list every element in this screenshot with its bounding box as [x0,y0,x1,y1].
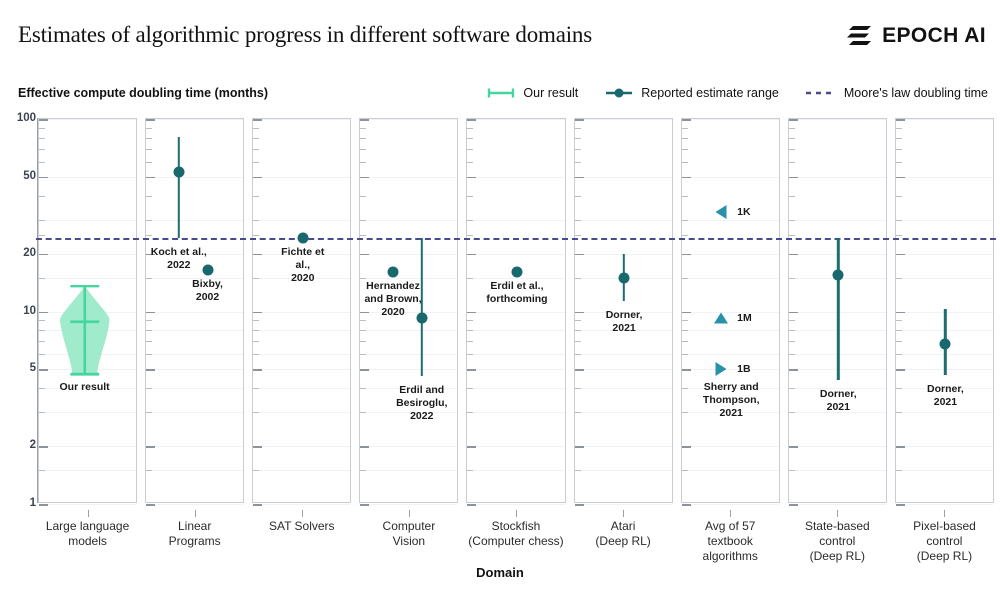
gridline [146,354,243,355]
gridline [39,412,136,413]
gridline [896,504,993,505]
minor-tick [467,138,473,139]
minor-tick [682,354,688,355]
major-tick [146,504,155,506]
minor-tick [575,388,581,389]
minor-tick [896,412,902,413]
gridline [253,504,350,505]
minor-tick [360,196,366,197]
minor-tick [146,341,152,342]
y-axis: 100502010521 [0,110,40,510]
minor-tick [39,341,45,342]
minor-tick [39,196,45,197]
minor-tick [146,278,152,279]
major-tick [253,312,262,314]
gridline [682,330,779,331]
major-tick [789,369,798,371]
major-tick [146,369,155,371]
minor-tick [360,220,366,221]
marker-value-label: 1K [737,206,750,218]
moores-law-line [679,238,782,240]
panel-grid: Our resultKoch et al., 2022Bixby, 2002Fi… [38,110,994,510]
minor-tick [789,128,795,129]
gridline [146,220,243,221]
minor-tick [575,162,581,163]
domain-panel: Erdil et al., forthcoming [466,118,565,503]
legend-item-reported-range[interactable]: Reported estimate range [604,86,779,100]
major-tick [575,369,584,371]
minor-tick [467,278,473,279]
minor-tick [789,220,795,221]
x-tick [516,510,517,517]
major-tick [682,254,691,256]
triangle-left-marker-icon [716,205,727,219]
dashed-line-icon [805,86,837,100]
minor-tick [467,196,473,197]
minor-tick [896,330,902,331]
x-tick [730,510,731,517]
minor-tick [467,162,473,163]
minor-tick [146,196,152,197]
gridline [789,504,886,505]
estimate-point-marker [940,338,951,349]
minor-tick [467,235,473,236]
y-tick-label: 5 [30,362,36,374]
gridline [467,330,564,331]
minor-tick [253,128,259,129]
minor-tick [682,149,688,150]
gridline [575,220,672,221]
chart-header: Estimates of algorithmic progress in dif… [0,0,1000,68]
brand-name: EPOCH AI [882,24,986,48]
minor-tick [360,128,366,129]
minor-tick [146,388,152,389]
minor-tick [360,320,366,321]
minor-tick [253,162,259,163]
estimate-label: Koch et al., 2022 [151,246,207,272]
minor-tick [39,388,45,389]
epoch-slanted-bars-logo-icon [847,25,873,47]
major-tick [896,119,905,121]
gridline [467,470,564,471]
major-tick [896,254,905,256]
gridline [360,330,457,331]
gridline [575,369,672,370]
minor-tick [360,388,366,389]
gridline [146,177,243,178]
gridline [467,504,564,505]
major-tick [360,254,369,256]
minor-tick [682,320,688,321]
minor-tick [896,196,902,197]
minor-tick [253,330,259,331]
x-tick [837,510,838,517]
major-tick [360,446,369,448]
domain-panel: 1K1M1BSherry and Thompson, 2021 [681,118,780,503]
gridline [896,177,993,178]
minor-tick [789,149,795,150]
major-tick [467,119,476,121]
gridline [39,119,136,120]
minor-tick [682,128,688,129]
capped-error-bar-icon [486,86,516,100]
minor-tick [360,149,366,150]
minor-tick [682,470,688,471]
minor-tick [253,470,259,471]
gridline [39,278,136,279]
gridline [467,254,564,255]
gridline [360,354,457,355]
gridline [467,312,564,313]
gridline [575,354,672,355]
minor-tick [39,149,45,150]
x-tick [88,510,89,517]
gridline [39,470,136,471]
minor-tick [896,341,902,342]
major-tick [896,177,905,179]
gridline [682,369,779,370]
x-tick [623,510,624,517]
minor-tick [146,138,152,139]
minor-tick [360,235,366,236]
minor-tick [253,354,259,355]
gridline [682,278,779,279]
minor-tick [39,278,45,279]
major-tick [360,177,369,179]
gridline [467,388,564,389]
minor-tick [896,354,902,355]
chart-legend: Our result Reported estimate range Moore… [486,86,988,100]
estimate-point-marker [173,167,184,178]
gridline [39,446,136,447]
minor-tick [789,320,795,321]
gridline [360,470,457,471]
minor-tick [146,162,152,163]
domain-panel: Our result [38,118,137,503]
estimate-range-line [837,238,839,380]
minor-tick [575,354,581,355]
minor-tick [896,470,902,471]
minor-tick [575,149,581,150]
minor-tick [39,470,45,471]
x-tick [944,510,945,517]
minor-tick [789,388,795,389]
minor-tick [39,235,45,236]
gridline [360,446,457,447]
minor-tick [467,354,473,355]
minor-tick [682,388,688,389]
minor-tick [146,235,152,236]
gridline [467,369,564,370]
moores-law-line [572,238,675,240]
gridline [253,312,350,313]
legend-label: Moore's law doubling time [844,86,988,100]
minor-tick [896,138,902,139]
minor-tick [146,220,152,221]
gridline [360,119,457,120]
minor-tick [253,412,259,413]
minor-tick [789,196,795,197]
moores-law-line [143,238,246,240]
gridline [253,470,350,471]
major-tick [575,177,584,179]
domain-panel: Dorner, 2021 [788,118,887,503]
major-tick [467,369,476,371]
minor-tick [789,470,795,471]
minor-tick [575,138,581,139]
estimate-point-marker [388,267,399,278]
minor-tick [253,149,259,150]
gridline [146,312,243,313]
minor-tick [575,128,581,129]
minor-tick [467,330,473,331]
estimate-point-marker [297,233,308,244]
minor-tick [39,412,45,413]
gridline [682,504,779,505]
estimate-point-marker [511,267,522,278]
major-tick [467,254,476,256]
minor-tick [146,149,152,150]
major-tick [682,369,691,371]
gridline [146,446,243,447]
gridline [789,470,886,471]
major-tick [682,312,691,314]
gridline [253,388,350,389]
major-tick [682,446,691,448]
major-tick [253,254,262,256]
major-tick [253,504,262,506]
minor-tick [253,235,259,236]
estimate-range-line [178,137,180,239]
minor-tick [39,138,45,139]
estimate-label: Hernandez and Brown, 2020 [364,280,421,319]
minor-tick [360,412,366,413]
estimate-label: Dorner, 2021 [922,383,970,409]
gridline [682,312,779,313]
major-tick [789,254,798,256]
estimate-label: Fichte et al., 2020 [279,246,327,285]
major-tick [789,119,798,121]
minor-tick [146,320,152,321]
gridline [896,446,993,447]
major-tick [682,504,691,506]
y-tick-label: 1 [30,497,36,509]
minor-tick [789,354,795,355]
minor-tick [467,470,473,471]
minor-tick [896,388,902,389]
minor-tick [360,330,366,331]
legend-item-our-result[interactable]: Our result [486,86,578,100]
major-tick [575,312,584,314]
major-tick [146,312,155,314]
estimate-label: Dorner, 2021 [815,388,863,414]
gridline [575,446,672,447]
moores-law-line [357,238,460,240]
minor-tick [896,278,902,279]
minor-tick [360,138,366,139]
minor-tick [896,162,902,163]
major-tick [575,504,584,506]
gridline [896,254,993,255]
major-tick [896,312,905,314]
line-with-dot-icon [604,86,634,100]
minor-tick [789,138,795,139]
minor-tick [682,196,688,197]
major-tick [896,504,905,506]
gridline [575,177,672,178]
gridline [682,254,779,255]
major-tick [575,254,584,256]
minor-tick [896,235,902,236]
minor-tick [146,412,152,413]
minor-tick [789,235,795,236]
x-axis: Large language modelsLinear ProgramsSAT … [38,510,994,570]
estimate-point-marker [619,272,630,283]
gridline [253,330,350,331]
gridline [467,220,564,221]
y-tick-label: 50 [23,170,36,182]
minor-tick [253,388,259,389]
gridline [789,177,886,178]
marker-value-label: 1M [737,312,752,324]
major-tick [896,369,905,371]
triangle-up-marker-icon [714,312,728,323]
minor-tick [39,354,45,355]
gridline [360,177,457,178]
gridline [467,446,564,447]
marker-value-label: 1B [737,363,750,375]
minor-tick [146,354,152,355]
major-tick [789,177,798,179]
gridline [146,119,243,120]
major-tick [360,504,369,506]
minor-tick [253,341,259,342]
minor-tick [467,388,473,389]
major-tick [253,119,262,121]
moores-law-line [893,238,996,240]
minor-tick [789,412,795,413]
minor-tick [467,341,473,342]
x-axis-title: Domain [0,565,1000,580]
domain-panel: Dorner, 2021 [895,118,994,503]
minor-tick [360,341,366,342]
gridline [467,412,564,413]
minor-tick [39,220,45,221]
major-tick [253,446,262,448]
gridline [682,119,779,120]
major-tick [467,312,476,314]
gridline [575,412,672,413]
major-tick [682,119,691,121]
minor-tick [39,128,45,129]
minor-tick [575,330,581,331]
major-tick [146,177,155,179]
moores-law-line [36,238,139,240]
gridline [575,504,672,505]
major-tick [467,446,476,448]
major-tick [467,504,476,506]
minor-tick [575,235,581,236]
gridline [467,354,564,355]
minor-tick [789,278,795,279]
page-title: Estimates of algorithmic progress in dif… [18,22,592,48]
gridline [253,446,350,447]
y-axis-title: Effective compute doubling time (months) [18,86,268,100]
major-tick [575,446,584,448]
estimate-label: Dorner, 2021 [600,309,648,335]
legend-item-moores-law[interactable]: Moore's law doubling time [805,86,988,100]
gridline [682,354,779,355]
minor-tick [682,138,688,139]
minor-tick [575,220,581,221]
major-tick [146,119,155,121]
estimate-label: Bixby, 2002 [190,278,226,304]
domain-panel: Hernandez and Brown, 2020Erdil and Besir… [359,118,458,503]
minor-tick [467,128,473,129]
major-tick [467,177,476,179]
gridline [146,369,243,370]
minor-tick [360,278,366,279]
gridline [896,220,993,221]
estimate-label: Our result [59,381,109,394]
plot-area: 100502010521 Our resultKoch et al., 2022… [0,110,1000,510]
domain-panel: Dorner, 2021 [574,118,673,503]
gridline [360,504,457,505]
gridline [360,369,457,370]
gridline [253,412,350,413]
gridline [146,388,243,389]
gridline [896,119,993,120]
major-tick [39,254,48,256]
gridline [896,470,993,471]
y-tick-label: 10 [23,305,36,317]
minor-tick [146,128,152,129]
legend-label: Our result [523,86,578,100]
gridline [39,177,136,178]
minor-tick [575,278,581,279]
gridline [39,254,136,255]
major-tick [39,369,48,371]
gridline [253,369,350,370]
gridline [575,470,672,471]
gridline [253,119,350,120]
estimate-label: Sherry and Thompson, 2021 [703,381,760,420]
minor-tick [253,320,259,321]
gridline [896,412,993,413]
minor-tick [575,470,581,471]
gridline [360,254,457,255]
minor-tick [575,320,581,321]
y-tick-label: 2 [30,439,36,451]
minor-tick [682,412,688,413]
minor-tick [39,330,45,331]
minor-tick [682,235,688,236]
minor-tick [39,320,45,321]
gridline [682,177,779,178]
legend-label: Reported estimate range [641,86,779,100]
minor-tick [896,149,902,150]
gridline [467,177,564,178]
major-tick [789,504,798,506]
minor-tick [789,330,795,331]
major-tick [39,119,48,121]
gridline [146,330,243,331]
minor-tick [253,220,259,221]
gridline [360,278,457,279]
minor-tick [253,138,259,139]
major-tick [789,312,798,314]
x-tick [195,510,196,517]
